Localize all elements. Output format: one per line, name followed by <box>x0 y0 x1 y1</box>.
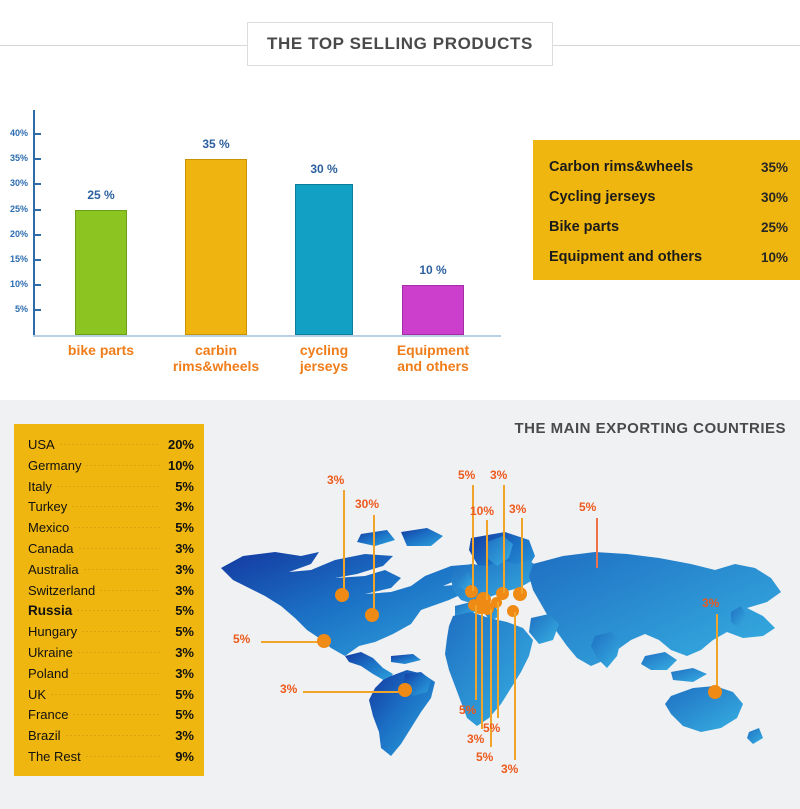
country-list-item: UK5% <box>28 684 194 705</box>
country-list-item: Brazil3% <box>28 725 194 746</box>
bar-equipment-and-others[interactable] <box>402 285 464 335</box>
map-leader-line <box>343 490 345 595</box>
country-list-item: Russia5% <box>28 600 194 621</box>
title-rule-right <box>552 45 800 46</box>
top-title-band: THE TOP SELLING PRODUCTS <box>0 22 800 70</box>
map-marker-brazil[interactable] <box>398 683 412 697</box>
map-percent-label-turkey: 3% <box>501 762 518 776</box>
leader-dots <box>71 502 160 511</box>
infographic-root: THE TOP SELLING PRODUCTS 40%35%30%25%20%… <box>0 0 800 809</box>
chart-category-line: jerseys <box>269 359 379 375</box>
country-list-item: Germany10% <box>28 455 194 476</box>
country-percent: 5% <box>164 479 194 494</box>
chart-category-line: bike parts <box>49 343 153 359</box>
country-list-item: Hungary5% <box>28 621 194 642</box>
country-list-item: Canada3% <box>28 538 194 559</box>
map-percent-label-poland: 3% <box>490 468 507 482</box>
title-rule-left <box>0 45 248 46</box>
bar-chart: 40%35%30%25%20%15%10%5% 25 %35 %30 %10 %… <box>0 105 520 395</box>
country-list-item: Poland3% <box>28 663 194 684</box>
country-name: Poland <box>28 666 68 681</box>
map-leader-line <box>716 614 718 692</box>
map-marker[interactable] <box>507 605 519 617</box>
chart-x-axis <box>33 335 501 337</box>
country-list-panel: USA20%Germany10%Italy5%Turkey3%Mexico5%C… <box>14 424 204 776</box>
leader-dots <box>78 544 160 553</box>
leader-dots <box>83 565 160 574</box>
country-percent: 10% <box>164 458 194 473</box>
country-percent: 3% <box>164 562 194 577</box>
map-percent-label-germany: 10% <box>470 504 494 518</box>
product-legend-row: Equipment and others10% <box>549 242 788 272</box>
map-section-title: THE MAIN EXPORTING COUNTRIES <box>514 420 786 437</box>
country-name: Hungary <box>28 624 77 639</box>
chart-category-line: carbin <box>159 343 273 359</box>
country-list-item: USA20% <box>28 434 194 455</box>
country-percent: 3% <box>164 583 194 598</box>
chart-category-line: rims&wheels <box>159 359 273 375</box>
country-name: Mexico <box>28 520 69 535</box>
product-legend-percent: 25% <box>761 220 788 235</box>
map-percent-label-russia: 5% <box>579 500 596 514</box>
product-legend-row: Carbon rims&wheels35% <box>549 152 788 182</box>
map-leader-line <box>261 641 323 643</box>
country-percent: 3% <box>164 728 194 743</box>
country-percent: 3% <box>164 666 194 681</box>
country-name: Italy <box>28 479 52 494</box>
country-name: Switzerland <box>28 583 95 598</box>
bar-cycling-jerseys[interactable] <box>295 184 353 335</box>
country-name: Brazil <box>28 728 61 743</box>
leader-dots <box>76 606 160 615</box>
map-marker-canada[interactable] <box>335 588 349 602</box>
map-leader-line <box>303 691 404 693</box>
country-name: Ukraine <box>28 645 73 660</box>
country-percent: 5% <box>164 603 194 618</box>
bar-carbin-rims-wheels[interactable] <box>185 159 247 335</box>
map-percent-label-mexico: 5% <box>233 632 250 646</box>
map-leader-line <box>596 518 598 568</box>
chart-category-label: bike parts <box>49 343 153 359</box>
country-percent: 20% <box>164 437 194 452</box>
map-percent-label-hungary: 5% <box>483 721 500 735</box>
map-percent-label-canada: 3% <box>327 473 344 487</box>
country-name: Turkey <box>28 499 67 514</box>
country-percent: 9% <box>164 749 194 764</box>
leader-dots <box>59 440 160 449</box>
leader-dots <box>85 752 160 761</box>
exporting-countries-section: THE MAIN EXPORTING COUNTRIES USA20%Germa… <box>0 400 800 809</box>
product-legend-panel: Carbon rims&wheels35%Cycling jerseys30%B… <box>533 140 800 280</box>
leader-dots <box>56 482 160 491</box>
country-name: Germany <box>28 458 81 473</box>
chart-category-line: and others <box>376 359 490 375</box>
map-percent-label-ukraine: 3% <box>509 502 526 516</box>
product-legend-name: Equipment and others <box>549 249 702 265</box>
country-list-item: Italy5% <box>28 476 194 497</box>
country-percent: 5% <box>164 520 194 535</box>
country-list-item: Turkey3% <box>28 496 194 517</box>
map-marker[interactable] <box>491 597 502 608</box>
leader-dots <box>65 731 160 740</box>
country-list-item: France5% <box>28 704 194 725</box>
leader-dots <box>73 523 160 532</box>
country-percent: 5% <box>164 624 194 639</box>
country-percent: 5% <box>164 687 194 702</box>
map-percent-label-france: 5% <box>459 703 476 717</box>
leader-dots <box>72 710 160 719</box>
country-percent: 3% <box>164 499 194 514</box>
map-marker[interactable] <box>513 587 527 601</box>
product-legend-name: Cycling jerseys <box>549 189 655 205</box>
map-leader-line <box>475 605 477 700</box>
map-marker[interactable] <box>465 585 478 598</box>
map-leader-line <box>503 485 505 593</box>
bar-value-label: 25 % <box>75 188 127 202</box>
map-marker-usa-east[interactable] <box>365 608 379 622</box>
country-name: Russia <box>28 603 72 618</box>
map-percent-label-uk: 5% <box>458 468 475 482</box>
world-map: 3%30%5%3%5%10%3%3%5%3%5%5%5%3%3% <box>215 460 790 790</box>
map-percent-label-brazil: 3% <box>280 682 297 696</box>
chart-category-label: Equipmentand others <box>376 343 490 374</box>
country-list-item: The Rest9% <box>28 746 194 767</box>
product-legend-percent: 10% <box>761 250 788 265</box>
map-leader-line <box>514 612 516 760</box>
country-list-item: Mexico5% <box>28 517 194 538</box>
map-percent-label-usa-east: 30% <box>355 497 379 511</box>
chart-category-label: carbinrims&wheels <box>159 343 273 374</box>
country-list-item: Australia3% <box>28 559 194 580</box>
product-legend-percent: 30% <box>761 190 788 205</box>
product-legend-percent: 35% <box>761 160 788 175</box>
leader-dots <box>77 648 160 657</box>
map-leader-line <box>472 485 474 591</box>
map-leader-line <box>373 515 375 615</box>
leader-dots <box>99 586 160 595</box>
country-percent: 5% <box>164 707 194 722</box>
map-leader-line <box>497 602 499 718</box>
country-percent: 3% <box>164 645 194 660</box>
bar-value-label: 10 % <box>402 263 464 277</box>
product-legend-name: Bike parts <box>549 219 619 235</box>
product-legend-row: Bike parts25% <box>549 212 788 242</box>
map-marker-mexico[interactable] <box>317 634 331 648</box>
map-leader-line <box>486 520 488 600</box>
country-percent: 3% <box>164 541 194 556</box>
map-leader-line <box>521 518 523 594</box>
product-legend-name: Carbon rims&wheels <box>549 159 693 175</box>
chart-category-line: Equipment <box>376 343 490 359</box>
page-title: THE TOP SELLING PRODUCTS <box>247 22 553 66</box>
chart-bars: 25 %35 %30 %10 % <box>0 105 520 335</box>
country-name: France <box>28 707 68 722</box>
country-name: Australia <box>28 562 79 577</box>
bar-value-label: 35 % <box>185 137 247 151</box>
bar-value-label: 30 % <box>295 162 353 176</box>
page-title-text: THE TOP SELLING PRODUCTS <box>267 34 533 54</box>
leader-dots <box>85 461 160 470</box>
leader-dots <box>50 690 160 699</box>
country-name: Canada <box>28 541 74 556</box>
map-marker-australia[interactable] <box>708 685 722 699</box>
country-name: The Rest <box>28 749 81 764</box>
map-percent-label-italy: 5% <box>476 750 493 764</box>
country-list-item: Switzerland3% <box>28 580 194 601</box>
country-name: USA <box>28 437 55 452</box>
map-leader-line <box>481 607 483 729</box>
chart-category-label: cyclingjerseys <box>269 343 379 374</box>
leader-dots <box>81 627 160 636</box>
chart-category-line: cycling <box>269 343 379 359</box>
country-name: UK <box>28 687 46 702</box>
bar-bike-parts[interactable] <box>75 210 127 336</box>
map-percent-label-australia: 3% <box>702 596 719 610</box>
product-legend-row: Cycling jerseys30% <box>549 182 788 212</box>
leader-dots <box>72 669 160 678</box>
map-percent-label-switzerland: 3% <box>467 732 484 746</box>
country-list-item: Ukraine3% <box>28 642 194 663</box>
